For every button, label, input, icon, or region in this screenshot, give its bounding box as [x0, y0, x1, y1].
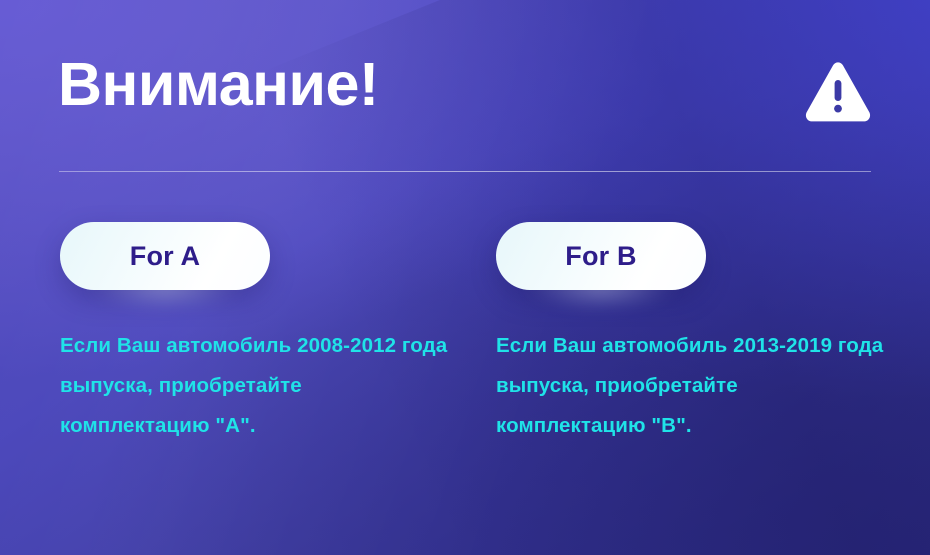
for-b-button-label: For B — [565, 241, 637, 272]
option-b-description: Если Ваш автомобиль 2013-2019 года выпус… — [496, 290, 886, 446]
option-column-b: For B Если Ваш автомобиль 2013-2019 года… — [496, 222, 896, 446]
attention-banner: Внимание! For A Если Ваш автомобиль 2008… — [0, 0, 930, 555]
for-a-button[interactable]: For A — [60, 222, 270, 290]
header-divider — [59, 171, 871, 172]
option-a-description: Если Ваш автомобиль 2008-2012 года выпус… — [60, 290, 450, 446]
warning-triangle-icon — [803, 60, 873, 128]
page-title: Внимание! — [58, 52, 379, 116]
for-a-button-wrap: For A — [60, 222, 270, 290]
for-b-button-wrap: For B — [496, 222, 706, 290]
for-b-button[interactable]: For B — [496, 222, 706, 290]
option-column-a: For A Если Ваш автомобиль 2008-2012 года… — [60, 222, 460, 446]
for-a-button-label: For A — [130, 241, 201, 272]
